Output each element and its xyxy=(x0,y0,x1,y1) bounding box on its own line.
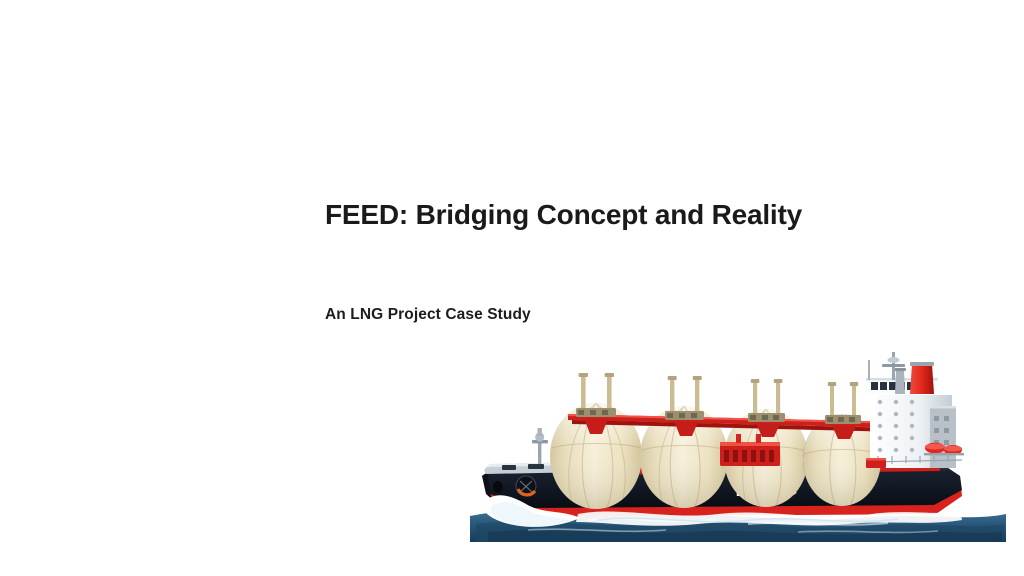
presentation-slide: FEED: Bridging Concept and Reality An LN… xyxy=(0,0,1024,576)
aft-superstructure xyxy=(866,352,964,468)
bow-crescent-emblem xyxy=(516,476,536,496)
foremast xyxy=(532,428,548,464)
slide-subtitle: An LNG Project Case Study xyxy=(325,306,531,325)
lng-carrier-ship-illustration: LNG xyxy=(468,344,1008,544)
page-title: FEED: Bridging Concept and Reality xyxy=(325,198,802,232)
stern-deck-structures xyxy=(866,458,886,468)
